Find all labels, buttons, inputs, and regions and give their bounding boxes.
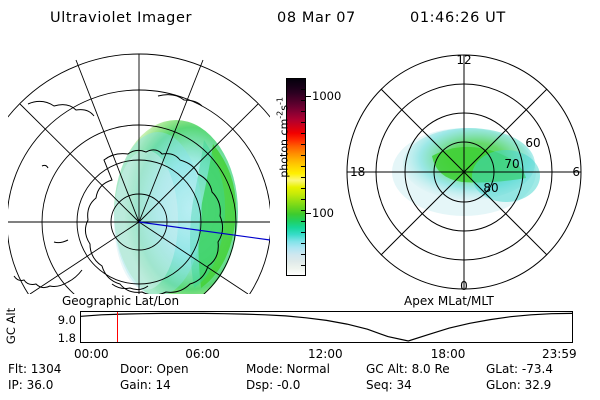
observation-date: 08 Mar 07 (277, 10, 356, 26)
mlat-label-60: 60 (525, 136, 540, 150)
colorbar-minor-tick (301, 144, 306, 145)
header: Ultraviolet Imager 08 Mar 07 01:46:26 UT (0, 6, 600, 32)
colorbar-minor-tick (301, 243, 306, 244)
instrument-title: Ultraviolet Imager (50, 10, 192, 26)
status-ip: IP: 36.0 (8, 378, 53, 392)
colorbar-minor-tick (301, 155, 306, 156)
mlt-label-left: 18 (350, 165, 365, 179)
mlt-spokes (347, 55, 581, 289)
geographic-panel (8, 44, 270, 294)
mlt-label-right: 6 (572, 165, 580, 179)
colorbar-tick-1000 (306, 96, 311, 97)
status-glon: GLon: 32.9 (486, 378, 551, 392)
timeseries-x-tick-3: 18:00 (431, 347, 466, 361)
mlat-label-80: 80 (483, 181, 498, 195)
aurora-emission-geographic (114, 120, 238, 294)
magnetic-panel: 12 6 18 0 60 70 80 (336, 44, 586, 294)
colorbar-minor-tick (301, 133, 306, 134)
mlt-label-top: 12 (456, 53, 471, 67)
current-time-marker (117, 312, 118, 342)
status-mode: Mode: Normal (246, 362, 330, 376)
geographic-map-svg (8, 44, 270, 294)
timeseries-x-tick-2: 12:00 (308, 347, 343, 361)
colorbar-minor-tick (301, 122, 306, 123)
caption-geographic: Geographic Lat/Lon (62, 294, 179, 308)
colorbar-tick-100 (306, 213, 311, 214)
status-footer: Flt: 1304Door: OpenMode: NormalGC Alt: 8… (0, 362, 600, 398)
timeseries-y-tick-0: 9.0 (44, 313, 76, 327)
observation-time: 01:46:26 UT (410, 10, 506, 26)
timeseries-curve-svg (81, 312, 572, 342)
colorbar-minor-tick (301, 89, 306, 90)
status-gcalt: GC Alt: 8.0 Re (366, 362, 450, 376)
status-gain: Gain: 14 (120, 378, 171, 392)
caption-magnetic: Apex MLat/MLT (404, 294, 494, 308)
timeseries-y-tick-1: 1.8 (44, 331, 76, 345)
altitude-timeseries: GC Alt 9.01.8 00:0006:0012:0018:0023:59 (0, 307, 600, 357)
colorbar-minor-tick (301, 177, 306, 178)
mlt-polar-svg: 12 6 18 0 60 70 80 (336, 44, 586, 294)
colorbar-minor-tick (301, 199, 306, 200)
status-door: Door: Open (120, 362, 189, 376)
status-seq: Seq: 34 (366, 378, 412, 392)
status-dsp: Dsp: -0.0 (246, 378, 300, 392)
mlat-label-70: 70 (504, 157, 519, 171)
colorbar-axis-label: photon cm-2s-1 (276, 62, 291, 212)
mlt-label-bottom: 0 (460, 279, 468, 293)
colorbar-minor-tick (301, 221, 306, 222)
colorbar-minor-tick (301, 265, 306, 266)
colorbar-tick-label-100: 100 (312, 206, 334, 220)
timeseries-y-axis-label: GC Alt (4, 303, 18, 349)
timeseries-x-tick-0: 00:00 (74, 347, 109, 361)
timeseries-x-tick-1: 06:00 (185, 347, 220, 361)
colorbar-minor-tick (301, 232, 306, 233)
colorbar-minor-tick (301, 111, 306, 112)
colorbar-minor-tick (301, 188, 306, 189)
uvi-summary-plot: Ultraviolet Imager 08 Mar 07 01:46:26 UT (0, 0, 600, 400)
status-glat: GLat: -73.4 (486, 362, 553, 376)
colorbar-minor-tick (301, 210, 306, 211)
timeseries-x-tick-4: 23:59 (542, 347, 577, 361)
colorbar: photon cm-2s-1 1000100 (272, 70, 334, 285)
gc-alt-curve (81, 313, 572, 341)
colorbar-minor-tick (301, 100, 306, 101)
timeseries-plot-box (80, 311, 573, 343)
colorbar-minor-tick (301, 166, 306, 167)
colorbar-minor-tick (301, 254, 306, 255)
status-flt: Flt: 1304 (8, 362, 61, 376)
